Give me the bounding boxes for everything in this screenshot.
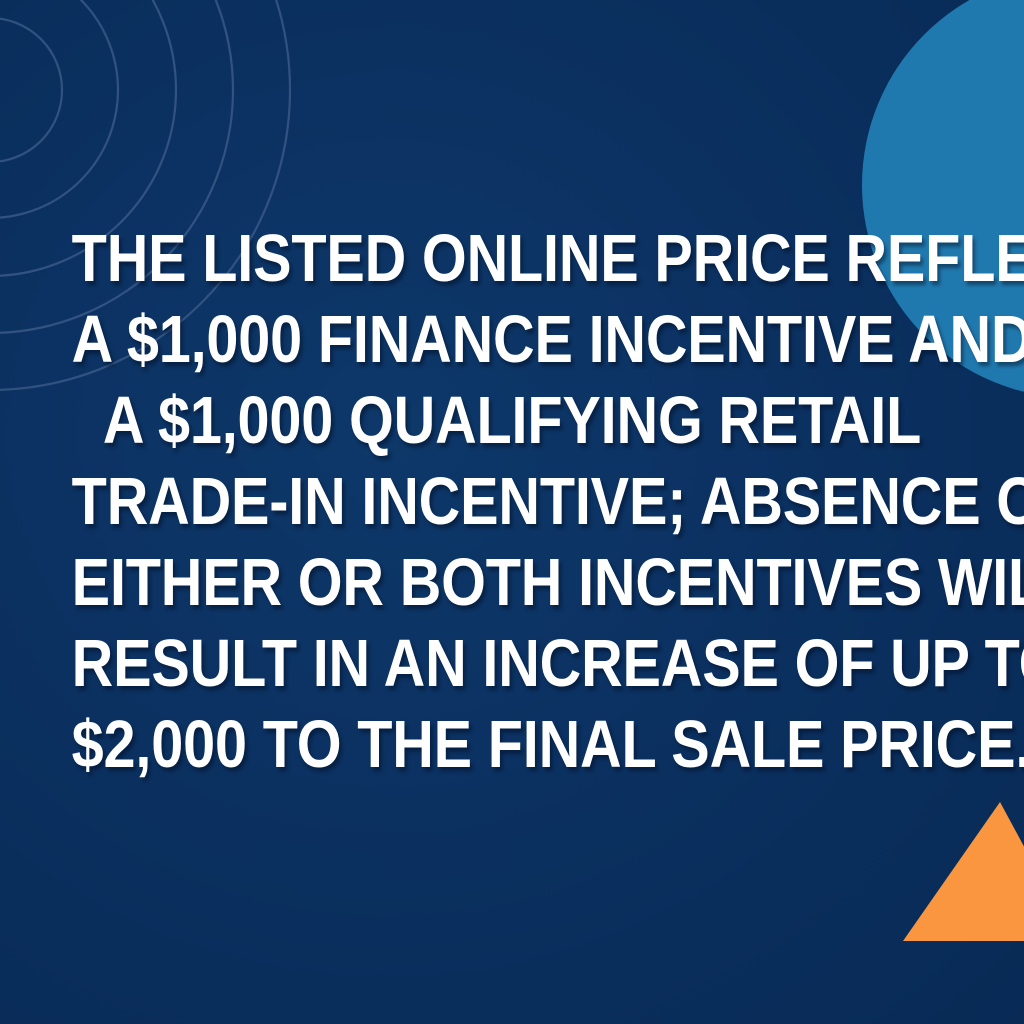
headline-line-6: RESULT IN AN INCREASE OF UP TO [72,623,953,704]
headline-line-3: A $1,000 QUALIFYING RETAIL [72,380,953,461]
headline-line-2: A $1,000 FINANCE INCENTIVE AND [72,299,953,380]
accent-triangle-decoration [903,802,1024,941]
headline-line-4: TRADE-IN INCENTIVE; ABSENCE OF [72,461,953,542]
headline-line-5: EITHER OR BOTH INCENTIVES WILL [72,542,953,623]
promo-disclaimer-canvas: THE LISTED ONLINE PRICE REFLECTS A $1,00… [0,0,1024,1024]
disclaimer-headline: THE LISTED ONLINE PRICE REFLECTS A $1,00… [72,218,953,785]
headline-line-1: THE LISTED ONLINE PRICE REFLECTS [72,218,953,299]
headline-line-7: $2,000 TO THE FINAL SALE PRICE. [72,704,953,785]
